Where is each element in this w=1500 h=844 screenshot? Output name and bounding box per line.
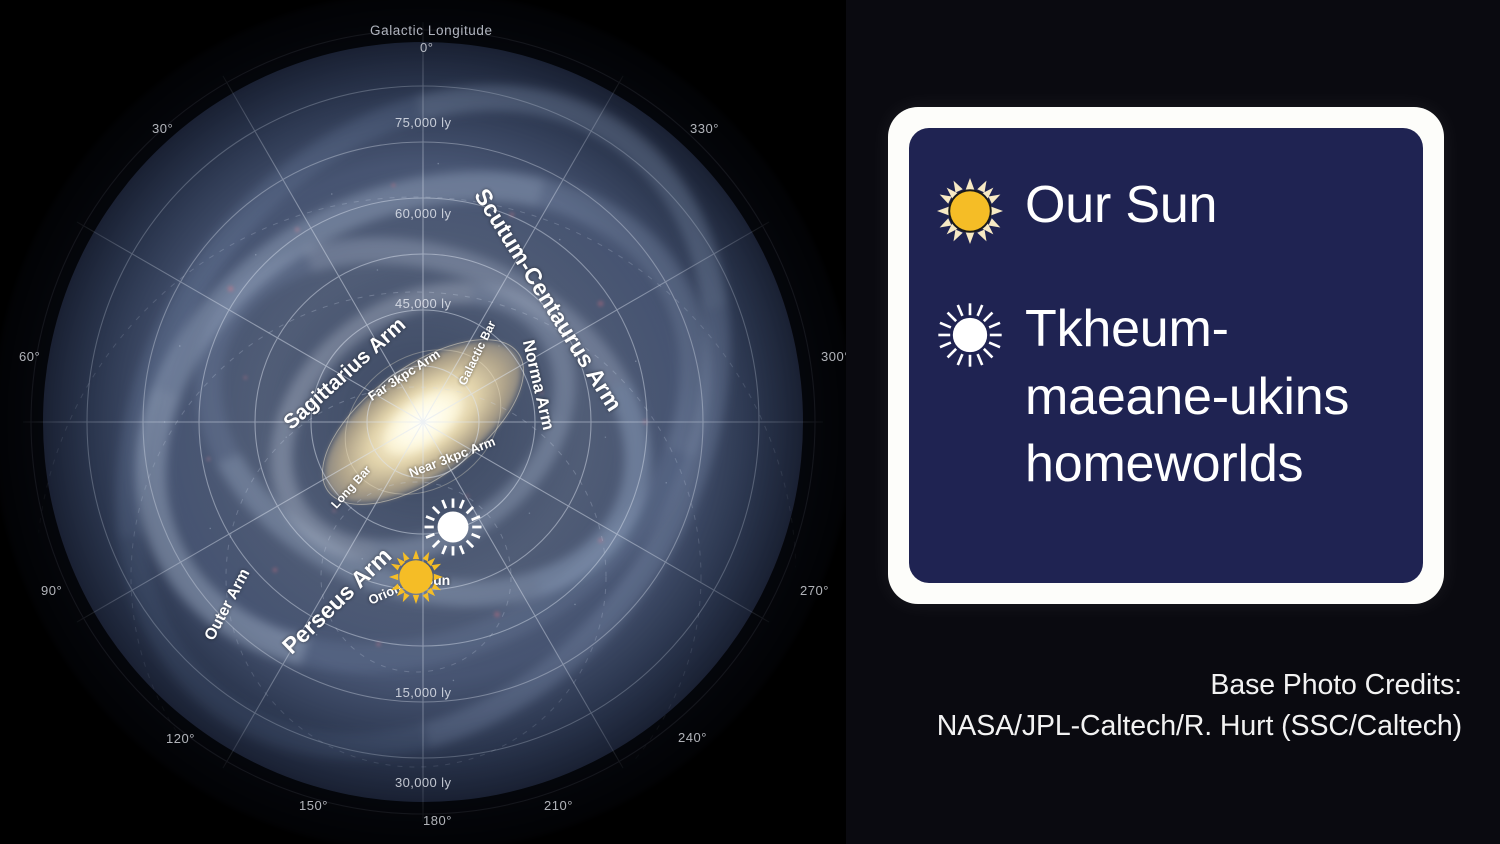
longitude-tick-label: 90°	[41, 583, 62, 598]
legend-item-label: Our Sun	[1025, 172, 1217, 240]
credits-line-2: NASA/JPL-Caltech/R. Hurt (SSC/Caltech)	[866, 706, 1462, 747]
longitude-tick-label: 0°	[420, 40, 433, 55]
legend-item-tkheum-homeworlds[interactable]: Tkheum-maeane-ukins homeworlds	[937, 296, 1397, 499]
white-sun-icon	[937, 302, 1003, 368]
longitude-tick-label: 60°	[19, 349, 40, 364]
white-sun-icon	[422, 496, 484, 558]
yellow-sun-icon	[937, 178, 1003, 244]
legend-item-label: Tkheum-maeane-ukins homeworlds	[1025, 296, 1397, 499]
yellow-sun-icon	[389, 550, 443, 604]
galaxy-map-image: Galactic Longitude 0°30°60°90°120°150°18…	[0, 0, 846, 844]
distance-ring-label: 30,000 ly	[395, 775, 451, 790]
longitude-tick-label: 300°	[821, 349, 846, 364]
slide-root: Galactic Longitude 0°30°60°90°120°150°18…	[0, 0, 1500, 844]
longitude-tick-label: 270°	[800, 583, 829, 598]
longitude-tick-label: 210°	[544, 798, 573, 813]
white-sun-marker	[422, 496, 484, 558]
legend-box: Our Sun	[909, 128, 1423, 583]
photo-credits: Base Photo Credits: NASA/JPL-Caltech/R. …	[866, 665, 1462, 748]
longitude-tick-label: 150°	[299, 798, 328, 813]
longitude-tick-label: 240°	[678, 730, 707, 745]
credits-line-1: Base Photo Credits:	[866, 665, 1462, 706]
longitude-tick-label: 120°	[166, 731, 195, 746]
distance-ring-label: 60,000 ly	[395, 206, 451, 221]
longitude-tick-label: 330°	[690, 121, 719, 136]
distance-ring-label: 45,000 ly	[395, 296, 451, 311]
distance-ring-label: 15,000 ly	[395, 685, 451, 700]
distance-ring-label: 75,000 ly	[395, 115, 451, 130]
longitude-tick-label: 30°	[152, 121, 173, 136]
legend-item-our-sun[interactable]: Our Sun	[937, 172, 1397, 244]
galactic-longitude-title: Galactic Longitude	[370, 23, 493, 38]
yellow-sun-marker	[389, 550, 443, 604]
legend-panel: Our Sun	[846, 0, 1500, 844]
legend-frame: Our Sun	[888, 107, 1444, 604]
longitude-tick-label: 180°	[423, 813, 452, 828]
